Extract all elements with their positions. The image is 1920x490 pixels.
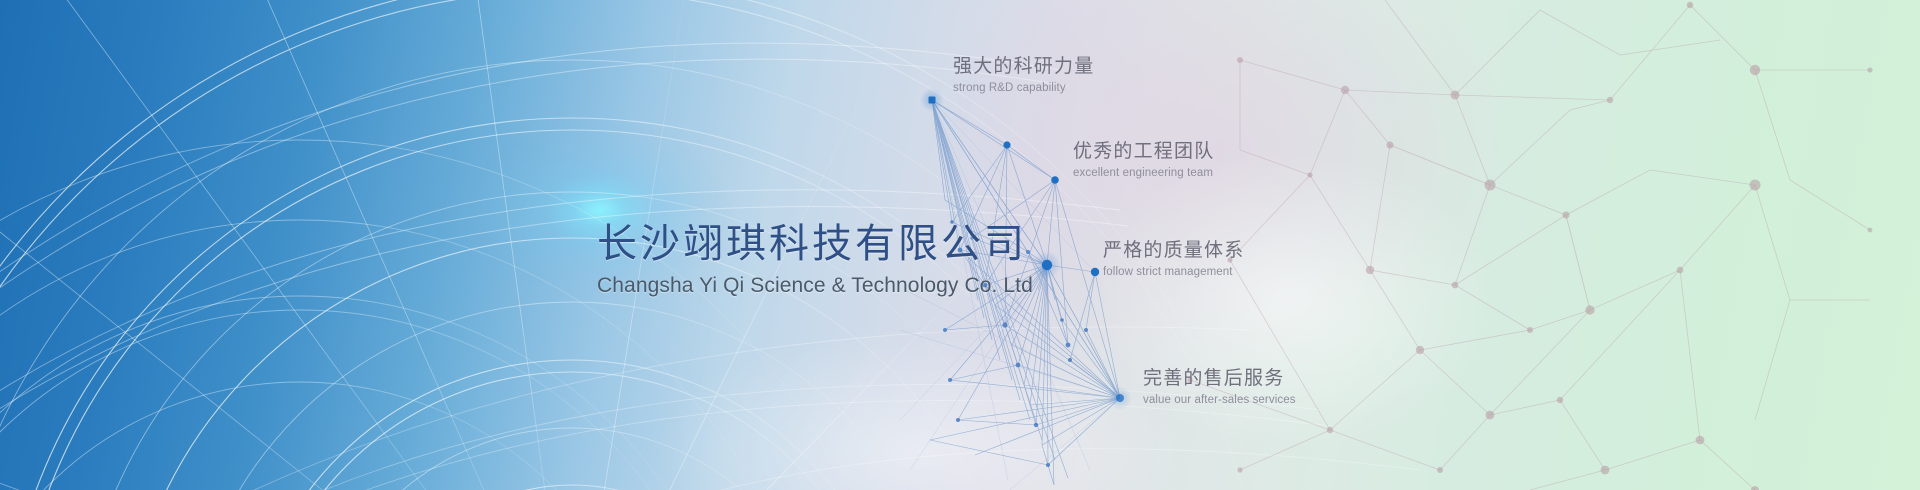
brand-title-block: 长沙翊琪科技有限公司 Changsha Yi Qi Science & Tech… [597,222,1033,298]
feature-label-en: value our after-sales services [1143,394,1296,406]
feature-label-cn: 严格的质量体系 [1103,239,1244,263]
feature-label-en: follow strict management [1103,266,1244,278]
feature-callout-service: 完善的售后服务 value our after-sales services [1143,367,1296,406]
feature-label-cn: 强大的科研力量 [953,55,1094,79]
page-title: 长沙翊琪科技有限公司 [597,222,1033,265]
feature-callout-rd: 强大的科研力量 strong R&D capability [953,55,1094,94]
bottom-white-glow [660,330,1180,490]
feature-callout-quality: 严格的质量体系 follow strict management [1103,239,1244,278]
page-subtitle: Changsha Yi Qi Science & Technology Co. … [597,274,1033,298]
feature-label-cn: 优秀的工程团队 [1073,140,1214,164]
feature-label-cn: 完善的售后服务 [1143,367,1296,391]
feature-callout-team: 优秀的工程团队 excellent engineering team [1073,140,1214,179]
feature-label-en: excellent engineering team [1073,167,1214,179]
hero-banner: 长沙翊琪科技有限公司 Changsha Yi Qi Science & Tech… [0,0,1920,490]
feature-label-en: strong R&D capability [953,82,1094,94]
